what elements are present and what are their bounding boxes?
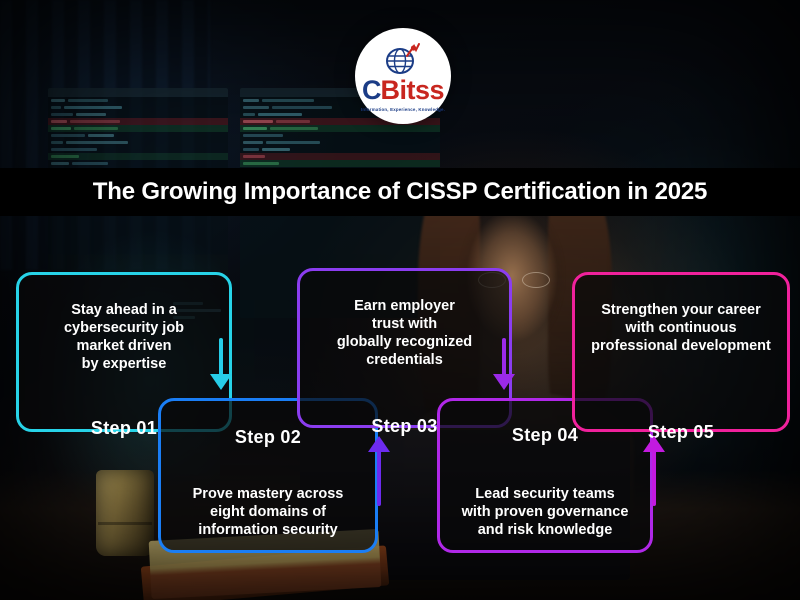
cbitss-logo[interactable]: C Bitss Information, Experience, Knowled… bbox=[355, 28, 451, 124]
page-title: The Growing Importance of CISSP Certific… bbox=[93, 178, 707, 206]
step-4-description: Lead security teams with proven governan… bbox=[452, 485, 638, 539]
title-banner: The Growing Importance of CISSP Certific… bbox=[0, 168, 800, 216]
logo-tagline: Information, Experience, Knowledge. bbox=[361, 107, 445, 112]
logo-letter-c: C bbox=[362, 77, 381, 104]
step-3-description: Earn employer trust with globally recogn… bbox=[312, 297, 497, 370]
step-2-description: Prove mastery across eight domains of in… bbox=[173, 485, 363, 539]
logo-wordmark: Bitss bbox=[380, 77, 444, 104]
step-5-label: Step 05 bbox=[575, 422, 787, 443]
globe-icon bbox=[383, 42, 423, 76]
infographic-canvas: C Bitss Information, Experience, Knowled… bbox=[0, 0, 800, 600]
step-1-description: Stay ahead in a cybersecurity job market… bbox=[31, 301, 217, 374]
step-card-5[interactable]: Strengthen your career with continuous p… bbox=[572, 272, 790, 432]
coffee-cup bbox=[96, 470, 154, 556]
step-5-description: Strengthen your career with continuous p… bbox=[587, 301, 775, 355]
